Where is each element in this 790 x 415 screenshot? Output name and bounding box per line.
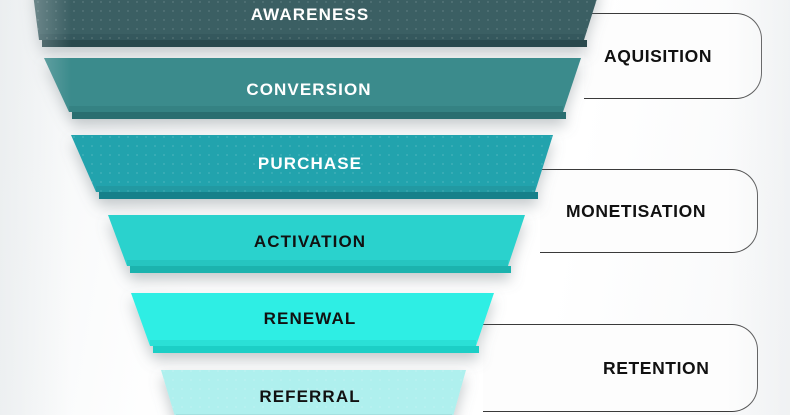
funnel-band-label: ACTIVATION: [254, 232, 366, 252]
funnel-band-sheen: [150, 340, 476, 346]
funnel-band-label: CONVERSION: [246, 80, 371, 100]
funnel-band-label: RENEWAL: [264, 309, 357, 329]
funnel-band-edge: [130, 266, 511, 273]
funnel-band-edge: [153, 346, 479, 353]
funnel-band-sheen: [127, 260, 508, 266]
funnel-band-edge: [99, 192, 538, 199]
funnel-band-sheen: [96, 186, 535, 192]
funnel-band-label: REFERRAL: [259, 387, 360, 407]
funnel-shapes: [0, 0, 790, 415]
funnel-band-edge: [42, 40, 587, 47]
funnel-band-label: AWARENESS: [251, 5, 370, 25]
funnel-diagram: AQUISITION MONETISATION RETENTION AWAREN…: [0, 0, 790, 415]
funnel-band-label: PURCHASE: [258, 154, 362, 174]
funnel-band-edge: [72, 112, 566, 119]
funnel-band-sheen: [39, 34, 584, 40]
funnel-band-sheen: [69, 106, 563, 112]
